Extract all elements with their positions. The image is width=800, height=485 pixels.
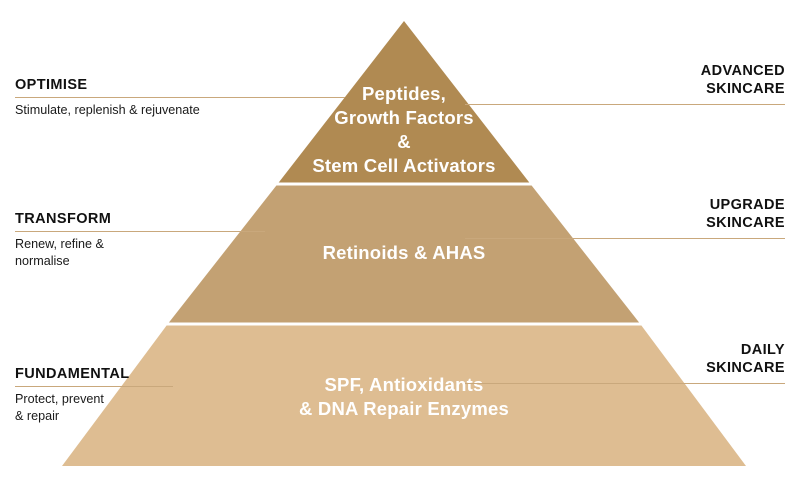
right-label-daily-rule (465, 383, 785, 384)
right-label-daily: DAILY SKINCARE (465, 341, 785, 384)
diagram-canvas: Peptides, Growth Factors & Stem Cell Act… (0, 0, 800, 485)
right-label-upgrade-rule (465, 238, 785, 239)
left-label-optimise: OPTIMISE Stimulate, replenish & rejuvena… (15, 76, 345, 119)
left-label-optimise-description: Stimulate, replenish & rejuvenate (15, 102, 345, 118)
left-label-transform-description: Renew, refine & normalise (15, 236, 265, 269)
left-label-fundamental-heading: FUNDAMENTAL (15, 365, 173, 383)
left-label-transform: TRANSFORM Renew, refine & normalise (15, 210, 265, 269)
left-label-optimise-rule (15, 97, 345, 98)
left-label-fundamental-rule (15, 386, 173, 387)
left-label-optimise-heading: OPTIMISE (15, 76, 345, 94)
left-label-fundamental: FUNDAMENTAL Protect, prevent & repair (15, 365, 173, 424)
right-label-daily-heading: DAILY SKINCARE (465, 341, 785, 378)
left-label-fundamental-description: Protect, prevent & repair (15, 391, 173, 424)
right-label-advanced-rule (465, 104, 785, 105)
right-label-advanced-heading: ADVANCED SKINCARE (465, 62, 785, 99)
right-label-upgrade: UPGRADE SKINCARE (465, 196, 785, 239)
left-label-transform-heading: TRANSFORM (15, 210, 265, 228)
right-label-upgrade-heading: UPGRADE SKINCARE (465, 196, 785, 233)
right-label-advanced: ADVANCED SKINCARE (465, 62, 785, 105)
pyramid-tier-middle-label: Retinoids & AHAS (250, 241, 558, 265)
left-label-transform-rule (15, 231, 265, 232)
